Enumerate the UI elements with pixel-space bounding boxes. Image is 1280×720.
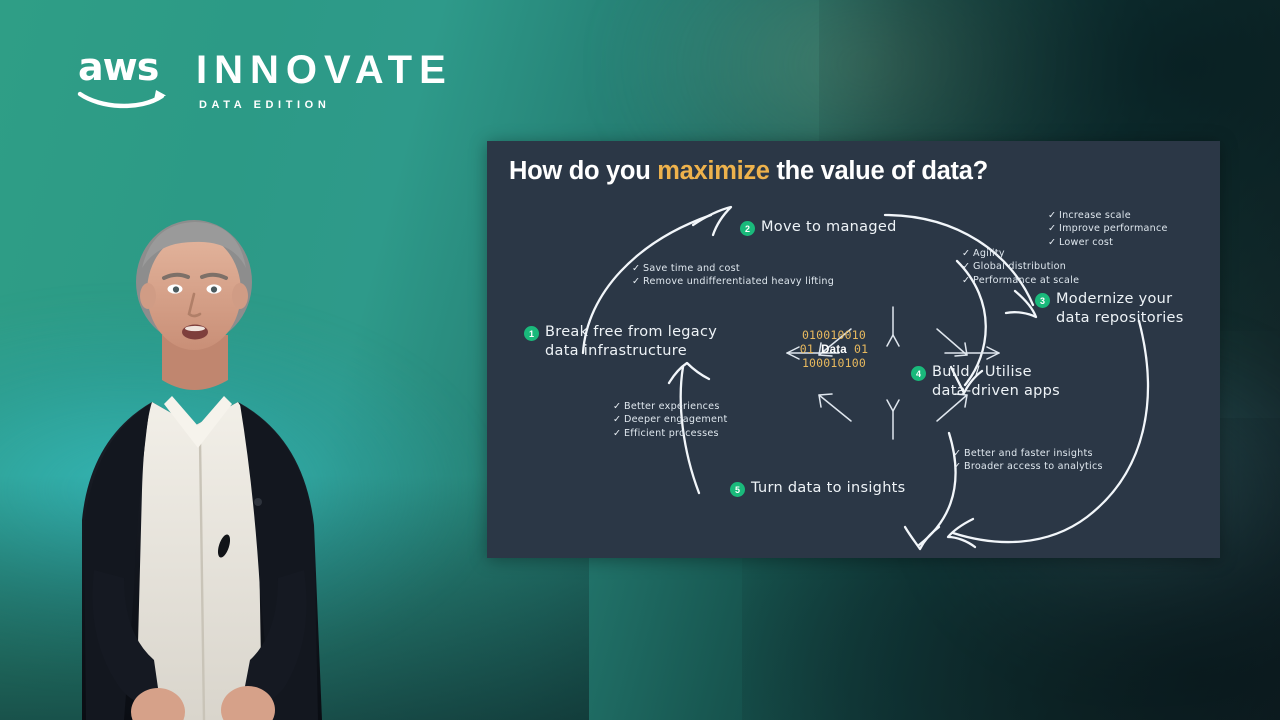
check-icon: ✓	[613, 400, 624, 413]
presenter-teeth	[185, 326, 205, 331]
aws-innovate-logo: aws INNOVATE DATA EDITION	[78, 48, 453, 111]
edition-text: DATA EDITION	[199, 99, 453, 111]
presenter-ear-right	[232, 283, 248, 309]
bullet-item: ✓Agility	[962, 247, 1079, 260]
data-word: Data	[821, 344, 847, 356]
bullet-item: ✓Deeper engagement	[613, 413, 727, 426]
check-icon: ✓	[953, 447, 964, 460]
aws-smile-icon	[78, 88, 170, 110]
check-icon: ✓	[962, 260, 973, 273]
innovate-text: INNOVATE	[196, 50, 453, 90]
step-5-label: Turn data to insights	[751, 479, 906, 498]
arrow-head-5-to-1	[669, 363, 709, 383]
check-icon: ✓	[962, 274, 973, 287]
step-2[interactable]: 2 Move to managed	[740, 218, 897, 237]
bullets-experience-benefits: ✓Better experiences ✓Deeper engagement ✓…	[613, 400, 727, 440]
bullet-item: ✓Performance at scale	[962, 274, 1079, 287]
data-core-graphic: 010010010 01 Data 01 100010100	[786, 329, 882, 371]
bullets-managed-benefits: ✓Save time and cost ✓Remove undifferenti…	[632, 262, 834, 289]
arrow-head-1-to-2	[693, 207, 731, 235]
bullet-item: ✓Save time and cost	[632, 262, 834, 275]
presenter-pupil-left	[173, 286, 179, 292]
bullets-agility-benefits: ✓Agility ✓Global distribution ✓Performan…	[962, 247, 1079, 287]
presenter-video	[42, 190, 472, 720]
check-icon: ✓	[613, 427, 624, 440]
check-icon: ✓	[1048, 209, 1059, 222]
bullet-item: ✓Better experiences	[613, 400, 727, 413]
arrow-head-4-to-5	[905, 527, 939, 549]
data-binary-bottom: 100010100	[786, 357, 882, 371]
bullet-item: ✓Global distribution	[962, 260, 1079, 273]
bullet-item: ✓Improve performance	[1048, 222, 1168, 235]
step-3-badge: 3	[1035, 293, 1050, 308]
step-1-badge: 1	[524, 326, 539, 341]
innovate-block: INNOVATE DATA EDITION	[196, 48, 453, 111]
data-binary-middle: 01 Data 01	[786, 343, 882, 358]
bullet-item: ✓Better and faster insights	[953, 447, 1103, 460]
video-frame: aws INNOVATE DATA EDITION	[0, 0, 1280, 720]
step-1[interactable]: 1 Break free from legacy data infrastruc…	[524, 323, 717, 361]
aws-logo-icon: aws	[78, 48, 170, 110]
check-icon: ✓	[613, 413, 624, 426]
bullets-insight-benefits: ✓Better and faster insights ✓Broader acc…	[953, 447, 1103, 474]
bullet-item: ✓Efficient processes	[613, 427, 727, 440]
aws-wordmark: aws	[78, 48, 170, 86]
step-2-badge: 2	[740, 221, 755, 236]
check-icon: ✓	[632, 262, 643, 275]
step-5[interactable]: 5 Turn data to insights	[730, 479, 906, 498]
step-4[interactable]: 4 Build / Utilise data-driven apps	[911, 363, 1060, 401]
data-binary-top: 010010010	[786, 329, 882, 343]
bullet-item: ✓Remove undifferentiated heavy lifting	[632, 275, 834, 288]
bullets-scale-benefits: ✓Increase scale ✓Improve performance ✓Lo…	[1048, 209, 1168, 249]
step-4-label: Build / Utilise data-driven apps	[932, 363, 1060, 401]
check-icon: ✓	[632, 275, 643, 288]
arrow-head-outer-loop	[948, 519, 975, 547]
step-4-badge: 4	[911, 366, 926, 381]
bullet-item: ✓Increase scale	[1048, 209, 1168, 222]
step-1-label: Break free from legacy data infrastructu…	[545, 323, 717, 361]
presenter-lapel-pin	[254, 498, 262, 506]
step-3[interactable]: 3 Modernize your data repositories	[1035, 290, 1184, 328]
check-icon: ✓	[953, 460, 964, 473]
presenter-ear-left	[140, 283, 156, 309]
step-2-label: Move to managed	[761, 218, 897, 237]
check-icon: ✓	[962, 247, 973, 260]
presenter-pupil-right	[211, 286, 217, 292]
step-5-badge: 5	[730, 482, 745, 497]
check-icon: ✓	[1048, 222, 1059, 235]
bullet-item: ✓Broader access to analytics	[953, 460, 1103, 473]
step-3-label: Modernize your data repositories	[1056, 290, 1184, 328]
